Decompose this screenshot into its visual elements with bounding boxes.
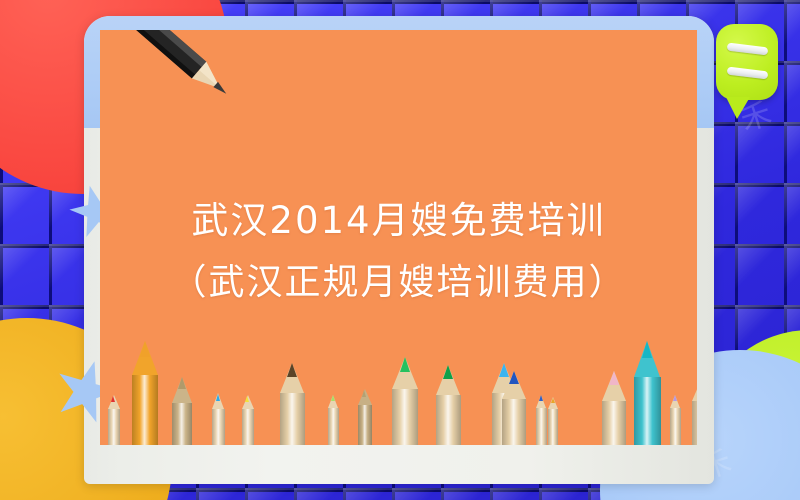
pencil-lead-tip [609,371,619,385]
pencil-lead-tip [331,395,335,401]
pencil-lead-tip [509,371,519,384]
colored-pencil [108,395,120,445]
pencil-barrel [670,408,681,445]
pencil-lead-tip [673,395,677,401]
colored-pencil [132,341,158,445]
page-title: 武汉2014月嫂免费培训 （武汉正规月嫂培训费用） [100,190,697,314]
pencil-lead-tip [178,377,186,389]
colored-pencil-row [100,335,697,445]
pencil-lead-tip [362,390,366,397]
colored-pencil [358,389,372,445]
pencil-barrel [634,377,661,445]
colored-pencil [670,395,681,445]
pencil-lead-tip [443,365,453,379]
colored-pencil [172,377,192,445]
colored-pencil [536,395,547,445]
pencil-barrel [212,409,225,445]
speech-bubble-line-2 [727,67,769,80]
colored-pencil [328,395,339,445]
banner-image: 禾 禾 以 武汉2014月嫂免费培训 （武汉正规月嫂培训费用） [0,0,800,500]
pencil-lead-tip [539,395,543,401]
pencil-barrel [602,401,626,445]
pencil-lead-tip [400,357,410,372]
pencil-barrel [536,408,547,445]
pencil-lead-tip [551,398,555,403]
pencil-barrel [548,409,558,445]
colored-pencil [692,373,697,445]
pencil-barrel [358,405,372,445]
pencil-wood-cone [692,373,697,401]
pencil-lead-tip [287,363,297,377]
title-line-1: 武汉2014月嫂免费培训 [100,190,697,252]
colored-pencil [242,395,254,445]
colored-pencil [548,397,558,445]
colored-pencil [602,371,626,445]
black-pencil-icon [116,30,286,174]
pencil-barrel [328,408,339,445]
pencil-barrel [502,399,526,445]
title-line-2: （武汉正规月嫂培训费用） [100,252,697,314]
pencil-lead-tip [245,396,249,402]
pencil-barrel [692,401,697,445]
colored-pencil [502,371,526,445]
speech-bubble-icon [716,24,778,100]
pencil-lead-tip [642,341,652,358]
pencil-lead-tip [111,396,115,402]
pencil-barrel [280,393,305,445]
colored-pencil [280,363,305,445]
pencil-barrel [172,403,192,445]
colored-pencil [212,393,225,445]
pencil-barrel [108,409,120,445]
pencil-barrel [132,375,158,445]
pencil-lead-tip [216,394,220,401]
colored-pencil [634,341,661,445]
content-panel: 武汉2014月嫂免费培训 （武汉正规月嫂培训费用） [100,30,697,445]
colored-pencil [392,357,418,445]
pencil-barrel [436,395,461,445]
pencil-barrel [242,409,254,445]
pencil-lead-tip [140,341,150,357]
pencil-barrel [392,389,418,445]
colored-pencil [436,365,461,445]
speech-bubble-line-1 [727,43,769,56]
